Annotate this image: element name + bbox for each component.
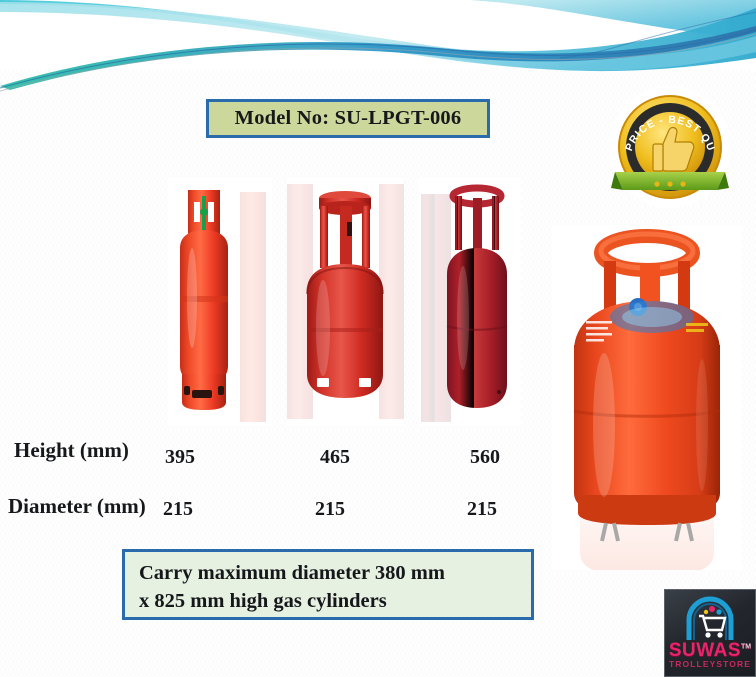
specifications-table: Height (mm) 395 465 560 Diameter (mm) 21… <box>0 436 540 538</box>
product-photo-medium <box>287 178 404 426</box>
note-line-1: Carry maximum diameter 380 mm <box>139 559 519 587</box>
logo-trademark: TM <box>741 644 751 651</box>
slide-canvas: Model No: SU-LPGT-006 <box>0 0 756 677</box>
hero-product-image <box>552 225 742 570</box>
model-number-box: Model No: SU-LPGT-006 <box>206 99 490 138</box>
diameter-value-1: 215 <box>148 498 208 521</box>
logo-brand-word: SUWAS <box>669 640 741 661</box>
note-line-2: x 825 mm high gas cylinders <box>139 587 519 615</box>
capacity-note-box: Carry maximum diameter 380 mm x 825 mm h… <box>122 549 534 620</box>
diameter-value-2: 215 <box>300 498 360 521</box>
table-row: Diameter (mm) 215 215 215 <box>0 494 540 540</box>
header-wave-decoration <box>0 0 756 92</box>
suwas-logo: SUWASTM TROLLEYSTORE <box>664 589 756 677</box>
height-value-2: 465 <box>305 446 365 469</box>
product-photo-large <box>419 178 521 426</box>
product-photo-small <box>168 178 272 426</box>
height-value-3: 560 <box>455 446 515 469</box>
best-price-best-quality-badge: BEST PRICE - BEST QUALITY <box>607 84 733 210</box>
diameter-value-3: 215 <box>452 498 512 521</box>
model-number-text: Model No: SU-LPGT-006 <box>235 107 462 130</box>
height-value-1: 395 <box>150 446 210 469</box>
table-row: Height (mm) 395 465 560 <box>0 438 540 484</box>
logo-tagline: TROLLEYSTORE <box>665 659 755 669</box>
